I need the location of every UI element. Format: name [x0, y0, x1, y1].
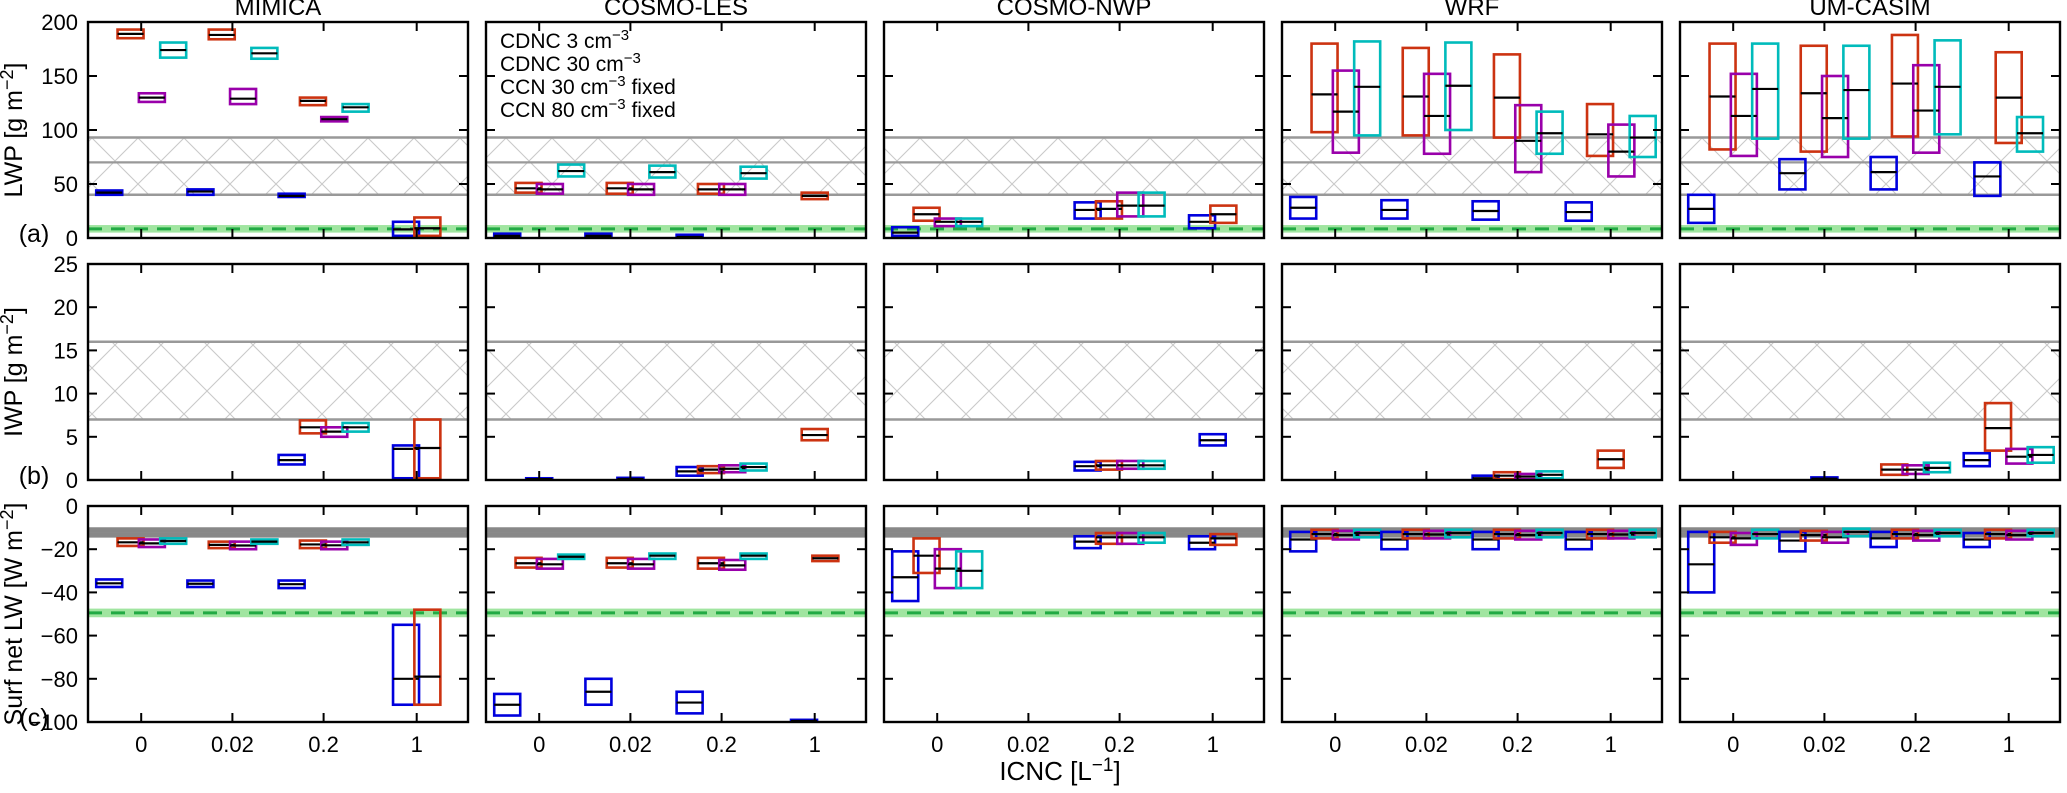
panel-title-um-casim: UM-CASIM [1809, 0, 1930, 21]
x-tick-label: 1 [2003, 732, 2015, 757]
legend-entry-ccn80[interactable]: CCN 80 cm−3 fixed [500, 96, 676, 122]
y-tick-label: 25 [54, 252, 78, 277]
x-tick-label: 1 [809, 732, 821, 757]
obs-band-hatch [88, 138, 468, 195]
x-tick-label: 1 [1207, 732, 1219, 757]
y-tick-label: 0 [66, 494, 78, 519]
y-tick-label: −60 [41, 624, 78, 649]
x-tick-label: 0.2 [706, 732, 737, 757]
x-tick-label: 0.02 [211, 732, 254, 757]
x-axis-label: ICNC [L−1] [999, 755, 1120, 786]
y-axis-label: IWP [g m−2] [0, 307, 28, 437]
y-tick-label: 0 [66, 226, 78, 251]
obs-band-solid [88, 530, 468, 535]
x-tick-label: 0.02 [1803, 732, 1846, 757]
legend-entry-cdnc3[interactable]: CDNC 3 cm−3 [500, 27, 629, 53]
obs-band-hatch [884, 138, 1264, 195]
obs-band-solid [884, 530, 1264, 535]
x-tick-label: 0.2 [308, 732, 339, 757]
panel-title-mimica: MIMICA [235, 0, 322, 21]
panel-letter-a: (a) [19, 220, 50, 248]
panel-letter-b: (b) [19, 462, 50, 490]
obs-band-hatch [88, 342, 468, 420]
x-tick-label: 0 [1727, 732, 1739, 757]
y-tick-label: 100 [41, 118, 78, 143]
legend-entry-ccn30[interactable]: CCN 30 cm−3 fixed [500, 73, 676, 99]
obs-band-hatch [1680, 342, 2060, 420]
y-tick-label: 150 [41, 64, 78, 89]
obs-band-solid [486, 530, 866, 535]
y-tick-label: 50 [54, 172, 78, 197]
x-tick-label: 0.2 [1502, 732, 1533, 757]
panel-title-cosmo-nwp: COSMO-NWP [997, 0, 1152, 21]
panel-title-wrf: WRF [1445, 0, 1500, 21]
obs-band-hatch [1282, 342, 1662, 420]
y-tick-label: −40 [41, 580, 78, 605]
x-tick-label: 0.2 [1104, 732, 1135, 757]
figure-canvas: 050100150200MIMICACOSMO-LESCOSMO-NWPWRFU… [0, 0, 2067, 793]
y-tick-label: 0 [66, 468, 78, 493]
x-tick-label: 0.02 [1007, 732, 1050, 757]
x-tick-label: 0.2 [1900, 732, 1931, 757]
y-tick-label: 5 [66, 425, 78, 450]
y-tick-label: −20 [41, 537, 78, 562]
x-tick-label: 0 [533, 732, 545, 757]
panel-letter-c: (c) [19, 704, 48, 732]
y-tick-label: 15 [54, 338, 78, 363]
y-axis-label: LWP [g m−2] [0, 63, 28, 198]
obs-band-hatch [884, 342, 1264, 420]
x-tick-label: 0.02 [1405, 732, 1448, 757]
y-tick-label: 200 [41, 10, 78, 35]
x-tick-label: 0 [931, 732, 943, 757]
obs-band-hatch [1282, 138, 1662, 195]
panel-title-cosmo-les: COSMO-LES [604, 0, 748, 21]
multi-panel-boxplot-figure: 050100150200MIMICACOSMO-LESCOSMO-NWPWRFU… [0, 0, 2067, 793]
x-tick-label: 1 [411, 732, 423, 757]
obs-band-hatch [486, 342, 866, 420]
y-tick-label: 20 [54, 295, 78, 320]
x-tick-label: 1 [1605, 732, 1617, 757]
y-axis-label: Surf net LW [W m−2] [0, 503, 28, 726]
x-tick-label: 0 [1329, 732, 1341, 757]
y-tick-label: 10 [54, 382, 78, 407]
x-tick-label: 0 [135, 732, 147, 757]
x-tick-label: 0.02 [609, 732, 652, 757]
y-tick-label: −80 [41, 667, 78, 692]
